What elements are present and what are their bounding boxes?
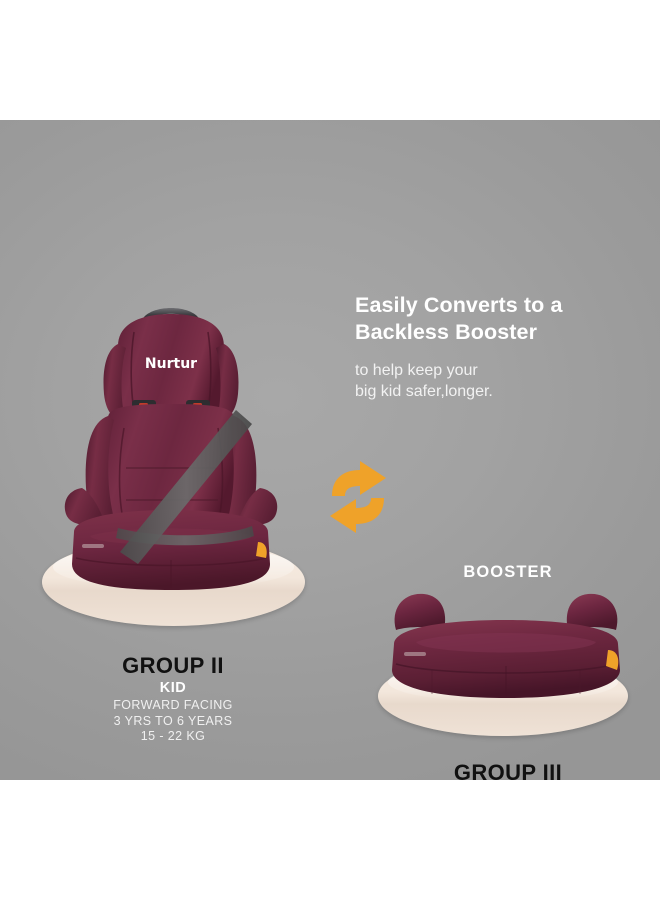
- subheadline-line-2: big kid safer,longer.: [355, 381, 635, 402]
- gray-backdrop-panel: Easily Converts to a Backless Booster to…: [0, 120, 660, 780]
- convert-swap-arrows-icon: [316, 458, 400, 536]
- headline: Easily Converts to a Backless Booster: [355, 292, 635, 346]
- headrest-brand-label: Nurtur: [145, 356, 197, 372]
- group-2-detail-2: 3 YRS TO 6 YEARS: [63, 714, 283, 730]
- group-2-title: GROUP II: [63, 653, 283, 678]
- headline-line-1: Easily Converts to a: [355, 292, 635, 319]
- subheadline: to help keep your big kid safer,longer.: [355, 360, 635, 402]
- product-marketing-image: Easily Converts to a Backless Booster to…: [0, 0, 660, 900]
- group-2-caption: GROUP II KID FORWARD FACING 3 YRS TO 6 Y…: [63, 653, 283, 745]
- subheadline-line-1: to help keep your: [355, 360, 635, 381]
- group-3-title: GROUP III: [398, 760, 618, 780]
- group-2-car-seat-image: Nurtur: [46, 292, 296, 592]
- group-3-caption: GROUP III BIG KID FORWARD FACING 6 YRS T…: [398, 760, 618, 780]
- headline-line-2: Backless Booster: [355, 319, 635, 346]
- group-3-booster-image: [382, 586, 630, 706]
- group-2-detail-3: 15 - 22 KG: [63, 729, 283, 745]
- group-2-subtitle: KID: [63, 679, 283, 698]
- booster-tag-label: BOOSTER: [398, 563, 618, 582]
- group-2-detail-1: FORWARD FACING: [63, 698, 283, 714]
